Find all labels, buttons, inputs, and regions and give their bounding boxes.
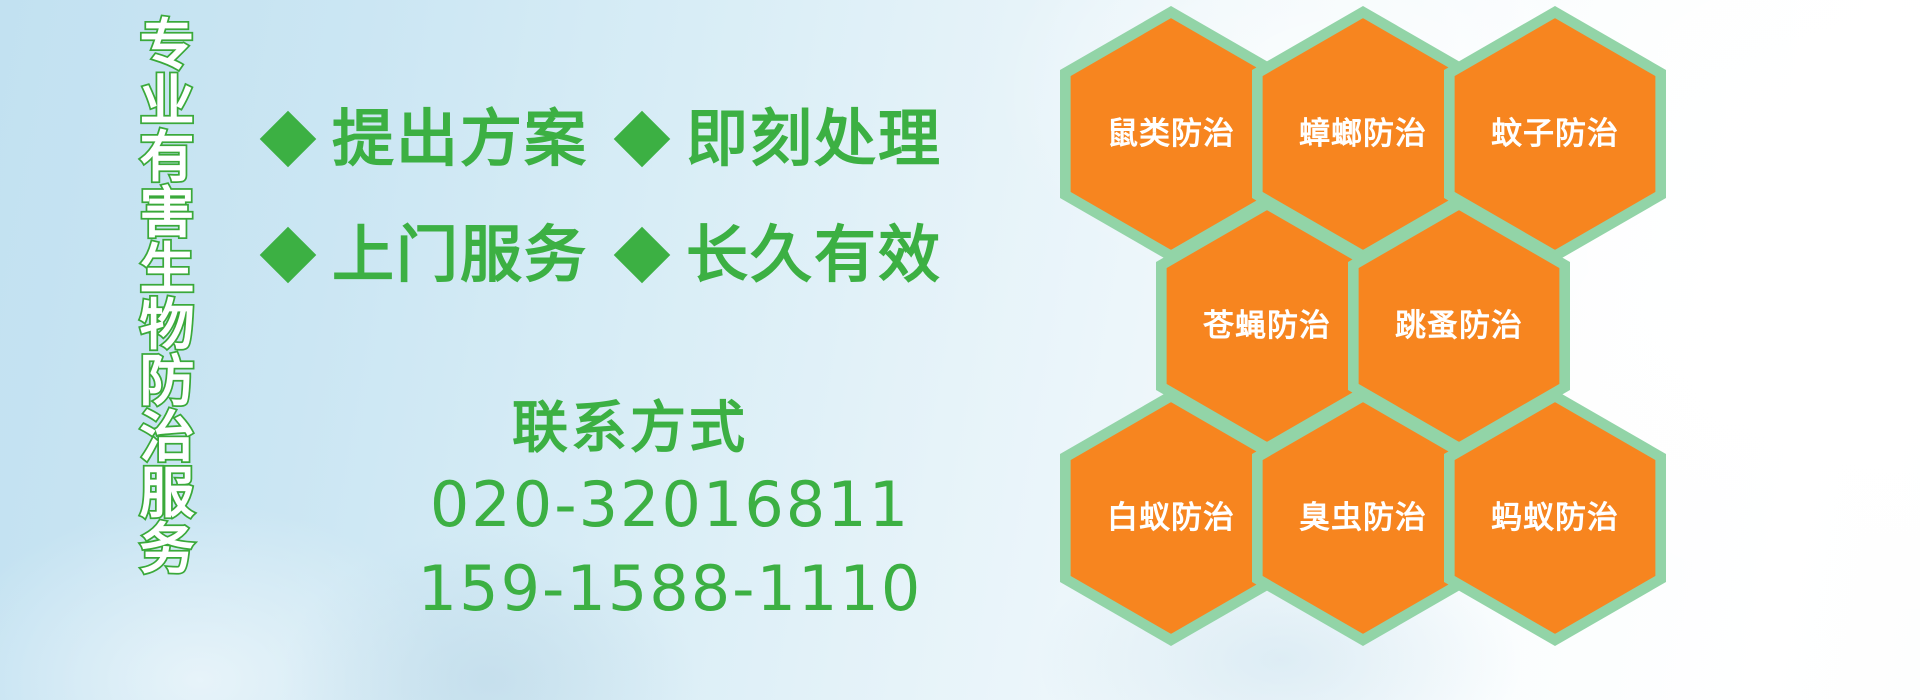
service-hex-label: 蚊子防治	[1444, 117, 1666, 151]
pest-control-banner: 专 业 有 害 生 物 防 治 服 务 提出方案 即刻处理 上门服务 长久有效 …	[0, 0, 1920, 700]
service-hex-label: 蟑螂防治	[1252, 117, 1474, 151]
service-hex-bedbug[interactable]: 臭虫防治	[1252, 390, 1474, 646]
phone-number-mobile[interactable]: 159-1588-1110	[360, 550, 980, 628]
diamond-bullet-icon	[260, 227, 317, 284]
vertical-headline-char: 治	[139, 410, 194, 465]
vertical-headline-char: 害	[139, 186, 194, 241]
service-hex-label: 鼠类防治	[1060, 117, 1282, 151]
feature-label: 提出方案	[332, 108, 588, 170]
vertical-headline-char: 生	[139, 242, 194, 297]
service-hex-label: 臭虫防治	[1252, 501, 1474, 535]
vertical-headline-char: 务	[139, 522, 194, 577]
feature-label: 长久有效	[686, 224, 942, 286]
service-hex-label: 苍蝇防治	[1156, 309, 1378, 343]
vertical-headline-char: 服	[139, 466, 194, 521]
diamond-bullet-icon	[614, 227, 671, 284]
feature-label: 即刻处理	[686, 108, 942, 170]
diamond-bullet-icon	[614, 111, 671, 168]
service-hex-ant[interactable]: 蚂蚁防治	[1444, 390, 1666, 646]
vertical-headline-char: 专	[139, 18, 194, 73]
feature-row: 提出方案 即刻处理	[268, 96, 942, 182]
diamond-bullet-icon	[260, 111, 317, 168]
service-hex-label: 白蚁防治	[1060, 501, 1282, 535]
phone-number-landline[interactable]: 020-32016811	[360, 466, 980, 544]
feature-list: 提出方案 即刻处理 上门服务 长久有效	[268, 96, 942, 298]
contact-block: 联系方式 020-32016811 159-1588-1110	[360, 398, 980, 628]
vertical-headline-char: 物	[139, 298, 194, 353]
feature-row: 上门服务 长久有效	[268, 212, 942, 298]
contact-title: 联系方式	[280, 398, 980, 460]
service-hex-label: 跳蚤防治	[1348, 309, 1570, 343]
vertical-headline-char: 有	[139, 130, 194, 185]
service-hex-termite[interactable]: 白蚁防治	[1060, 390, 1282, 646]
vertical-headline-char: 防	[139, 354, 194, 409]
vertical-headline-char: 业	[139, 74, 194, 129]
service-hex-grid: 鼠类防治 蟑螂防治 蚊子防治 苍蝇防治 跳蚤防治 白蚁防治	[1060, 0, 1680, 700]
vertical-headline: 专 业 有 害 生 物 防 治 服 务	[122, 18, 212, 578]
service-hex-label: 蚂蚁防治	[1444, 501, 1666, 535]
feature-label: 上门服务	[332, 224, 588, 286]
